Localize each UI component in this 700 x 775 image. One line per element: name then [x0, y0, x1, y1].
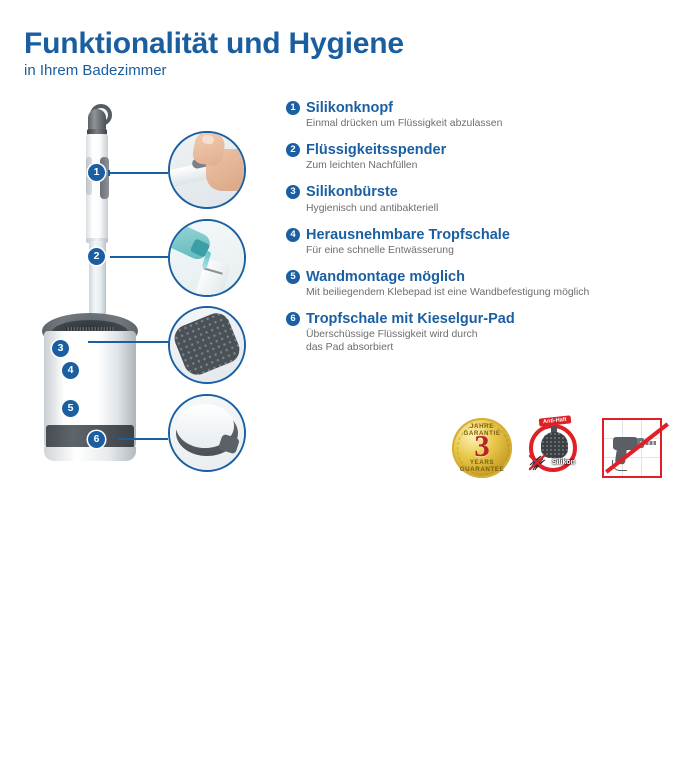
feature-description-2: Zum leichten Nachfüllen	[306, 159, 686, 172]
callout-line-3	[88, 341, 170, 343]
infographic-page: Funktionalität und Hygiene in Ihrem Bade…	[0, 0, 700, 506]
feature-item-3[interactable]: 3 Silikonbürste Hygienisch und antibakte…	[286, 184, 686, 214]
callout-line-1-tick	[108, 170, 110, 176]
callout-dot-2[interactable]: 2	[88, 248, 105, 265]
certification-badges: JAHRE GARANTIE 3 YEARS GUARANTEE A	[452, 418, 682, 480]
feature-description-1: Einmal drücken um Flüssigkeit abzulassen	[306, 117, 686, 130]
header: Funktionalität und Hygiene in Ihrem Bade…	[24, 28, 404, 79]
guarantee-badge-number: 3	[452, 430, 512, 461]
feature-item-2[interactable]: 2 Flüssigkeitsspender Zum leichten Nachf…	[286, 142, 686, 172]
guarantee-badge-bottom-text: YEARS GUARANTEE	[452, 459, 512, 473]
feature-item-5[interactable]: 5 Wandmontage möglich Mit beiliegendem K…	[286, 269, 686, 299]
crossed-out-hair-icon	[528, 452, 550, 472]
anti-hair-silicone-badge: Anti-Haft Silikon	[525, 418, 585, 478]
silicone-brush-head-thumbnail[interactable]	[168, 306, 246, 384]
feature-title-1: Silikonknopf	[306, 100, 686, 116]
callout-dot-6[interactable]: 6	[88, 431, 105, 448]
feature-title-2: Flüssigkeitsspender	[306, 142, 686, 158]
callout-line-6	[118, 438, 168, 440]
feature-item-6[interactable]: 6 Tropfschale mit Kieselgur-Pad Überschü…	[286, 311, 686, 354]
product-illustration	[20, 95, 180, 485]
feature-item-4[interactable]: 4 Herausnehmbare Tropfschale Für eine sc…	[286, 227, 686, 257]
feature-description-4: Für eine schnelle Entwässerung	[306, 244, 686, 257]
holder-foot	[44, 447, 136, 461]
feature-title-5: Wandmontage möglich	[306, 269, 686, 285]
drip-tray-thumbnail[interactable]	[168, 394, 246, 472]
callout-line-2	[110, 256, 168, 258]
callout-dot-1[interactable]: 1	[88, 164, 105, 181]
feature-number-badge-2: 2	[286, 143, 300, 157]
callout-dot-4[interactable]: 4	[62, 362, 79, 379]
feature-title-6: Tropfschale mit Kieselgur-Pad	[306, 311, 686, 327]
feature-item-1[interactable]: 1 Silikonknopf Einmal drücken um Flüssig…	[286, 100, 686, 130]
page-subtitle: in Ihrem Badezimmer	[24, 62, 404, 79]
silicone-material-label: Silikon	[552, 459, 575, 466]
feature-description-5: Mit beiliegendem Klebepad ist eine Wandb…	[306, 286, 686, 299]
callout-line-1	[108, 172, 168, 174]
feature-title-3: Silikonbürste	[306, 184, 686, 200]
feature-number-badge-4: 4	[286, 228, 300, 242]
drip-tray-highlight	[76, 761, 110, 775]
anti-hair-ribbon-label: Anti-Haft	[539, 415, 571, 426]
feature-number-badge-3: 3	[286, 185, 300, 199]
feature-title-4: Herausnehmbare Tropfschale	[306, 227, 686, 243]
callout-dot-5[interactable]: 5	[62, 400, 79, 417]
feature-number-badge-6: 6	[286, 312, 300, 326]
page-title: Funktionalität und Hygiene	[24, 28, 404, 60]
callout-dot-3[interactable]: 3	[52, 340, 69, 357]
feature-number-badge-1: 1	[286, 101, 300, 115]
guarantee-badge: JAHRE GARANTIE 3 YEARS GUARANTEE	[452, 418, 512, 478]
product-handle-top	[88, 109, 106, 131]
feature-list: 1 Silikonknopf Einmal drücken um Flüssig…	[286, 100, 686, 366]
refilling-liquid-thumbnail[interactable]	[168, 219, 246, 297]
feature-description-3: Hygienisch und antibakteriell	[306, 202, 686, 215]
feature-description-6: Überschüssige Flüssigkeit wird durch das…	[306, 328, 491, 354]
hand-pressing-button-thumbnail[interactable]	[168, 131, 246, 209]
no-drilling-badge	[602, 418, 662, 478]
feature-number-badge-5: 5	[286, 270, 300, 284]
